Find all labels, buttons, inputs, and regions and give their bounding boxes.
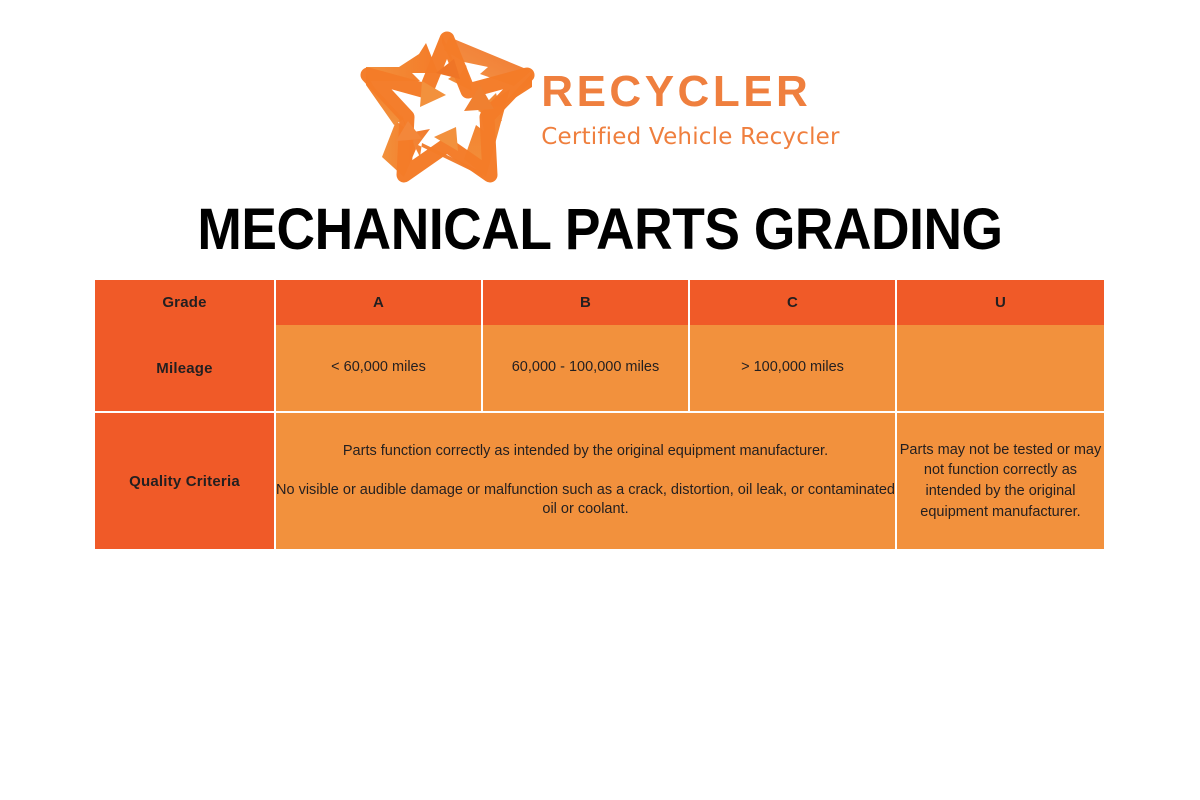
column-header-u: U [897,280,1104,325]
logo-tagline: Certified Vehicle Recycler [541,126,839,149]
column-header-grade: Grade [95,280,276,325]
row-label-quality-criteria: Quality Criteria [95,413,276,549]
recycling-star-logo-icon [360,29,535,184]
column-header-a: A [276,280,483,325]
row-label-mileage: Mileage [95,325,276,413]
column-header-c: C [690,280,897,325]
cell-mileage-c: > 100,000 miles [690,325,897,413]
table-row-mileage: Mileage < 60,000 miles 60,000 - 100,000 … [95,325,1104,413]
cell-quality-abc: Parts function correctly as intended by … [276,413,897,549]
logo-text-block: RECYCLER Certified Vehicle Recycler [541,70,839,149]
brand-logo: RECYCLER Certified Vehicle Recycler [0,26,1200,186]
grading-sheet-page: RECYCLER Certified Vehicle Recycler MECH… [0,0,1200,800]
cell-quality-u: Parts may not be tested or may not funct… [897,413,1104,549]
cell-mileage-u [897,325,1104,413]
page-title: MECHANICAL PARTS GRADING [48,196,1152,263]
cell-mileage-a: < 60,000 miles [276,325,483,413]
cell-mileage-b: 60,000 - 100,000 miles [483,325,690,413]
mechanical-parts-grading-table: Grade A B C U Mileage < 60,000 miles 60,… [95,280,1104,549]
quality-paragraph-2: No visible or audible damage or malfunct… [276,481,895,520]
column-header-b: B [483,280,690,325]
table-row-quality-criteria: Quality Criteria Parts function correctl… [95,413,1104,549]
logo-wordmark: RECYCLER [541,70,811,114]
quality-paragraph-1: Parts function correctly as intended by … [276,442,895,462]
table-header-row: Grade A B C U [95,280,1104,325]
